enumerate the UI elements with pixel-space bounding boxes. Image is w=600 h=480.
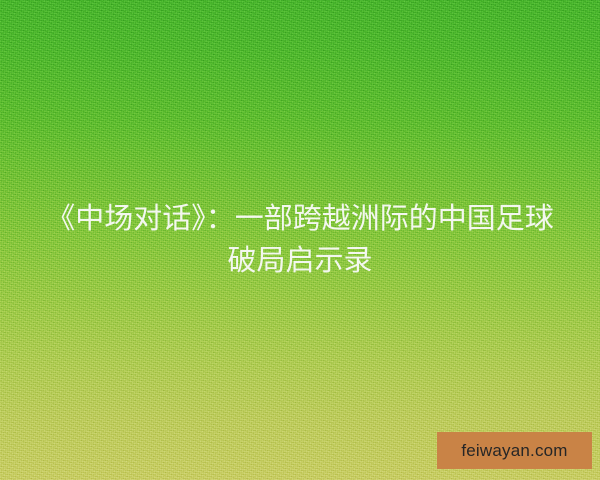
watermark-label: feiwayan.com [461,442,567,459]
image-canvas: 《中场对话》：一部跨越洲际的中国足球 破局启示录 feiwayan.com [0,0,600,480]
headline-text: 《中场对话》：一部跨越洲际的中国足球 破局启示录 [0,198,600,282]
watermark-badge: feiwayan.com [437,432,592,469]
